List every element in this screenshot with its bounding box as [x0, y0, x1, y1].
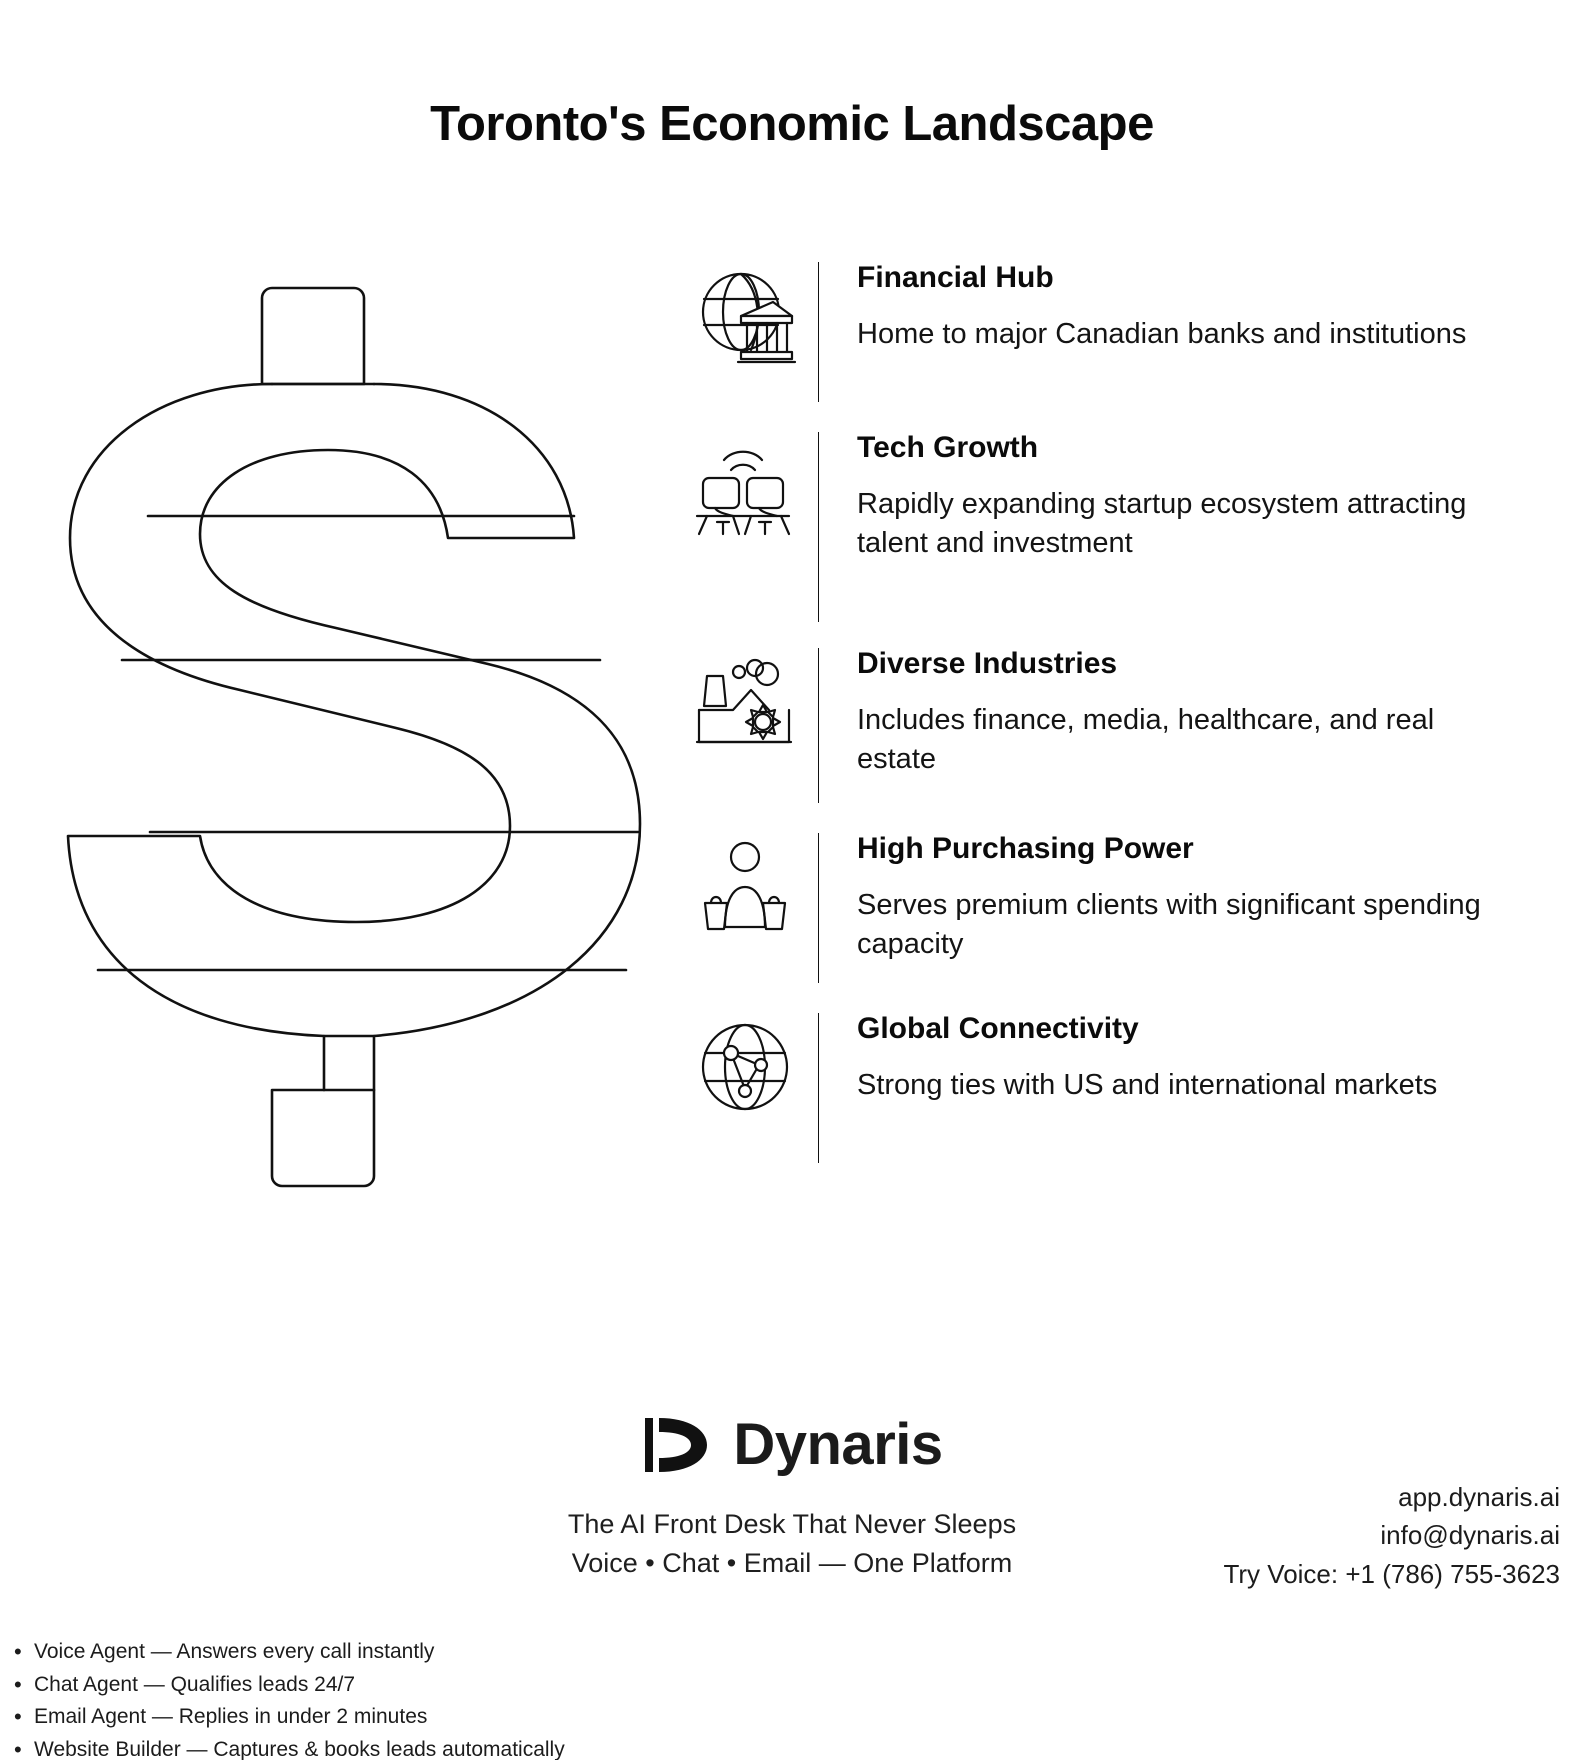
contact-phone[interactable]: Try Voice: +1 (786) 755-3623 — [1223, 1555, 1560, 1593]
list-item: Voice Agent — Answers every call instant… — [8, 1636, 528, 1669]
feature-description: Home to major Canadian banks and institu… — [857, 315, 1497, 354]
list-item: Chat Agent — Qualifies leads 24/7 — [8, 1669, 528, 1702]
brand-name: Dynaris — [733, 1416, 942, 1474]
feature-text: Tech Growth Rapidly expanding startup ec… — [819, 428, 1550, 563]
logo: Dynaris — [641, 1412, 942, 1478]
list-item: Email Agent — Replies in under 2 minutes — [8, 1701, 528, 1734]
feature-text: Global Connectivity Strong ties with US … — [819, 1009, 1550, 1105]
page-title: Toronto's Economic Landscape — [0, 96, 1584, 152]
feature-text: Diverse Industries Includes finance, med… — [819, 644, 1550, 779]
feature-title: Financial Hub — [857, 260, 1550, 295]
dollar-sign-illustration — [40, 270, 660, 1210]
shopper-person-icon — [690, 829, 800, 941]
feature-description: Strong ties with US and international ma… — [857, 1066, 1497, 1105]
feature-title: Tech Growth — [857, 430, 1550, 465]
feature-item-tech-growth: Tech Growth Rapidly expanding startup ec… — [690, 428, 1550, 626]
feature-text: High Purchasing Power Serves premium cli… — [819, 829, 1550, 964]
feature-item-diverse-industries: Diverse Industries Includes finance, med… — [690, 644, 1550, 807]
feature-title: High Purchasing Power — [857, 831, 1550, 866]
app-url[interactable]: app.dynaris.ai — [1223, 1478, 1560, 1516]
feature-description: Serves premium clients with significant … — [857, 886, 1497, 963]
list-item: Website Builder — Captures & books leads… — [8, 1734, 528, 1760]
feature-item-financial-hub: Financial Hub Home to major Canadian ban… — [690, 258, 1550, 406]
feature-title: Global Connectivity — [857, 1011, 1550, 1046]
feature-description: Includes finance, media, healthcare, and… — [857, 701, 1497, 778]
feature-item-global-connectivity: Global Connectivity Strong ties with US … — [690, 1009, 1550, 1167]
footer-feature-bullets: Voice Agent — Answers every call instant… — [8, 1636, 528, 1760]
contact-email[interactable]: info@dynaris.ai — [1223, 1516, 1560, 1554]
feature-item-high-purchasing-power: High Purchasing Power Serves premium cli… — [690, 829, 1550, 987]
dual-monitor-wifi-icon — [690, 428, 800, 540]
infographic-page: Toronto's Economic Landscape — [0, 0, 1584, 1760]
network-globe-icon — [690, 1009, 800, 1121]
feature-title: Diverse Industries — [857, 646, 1550, 681]
dynaris-logo-mark — [641, 1412, 715, 1478]
globe-bank-icon — [690, 258, 800, 370]
feature-description: Rapidly expanding startup ecosystem attr… — [857, 485, 1497, 562]
factory-gear-icon — [690, 644, 800, 756]
footer-contact: app.dynaris.ai info@dynaris.ai Try Voice… — [1223, 1478, 1560, 1593]
feature-list: Financial Hub Home to major Canadian ban… — [690, 258, 1550, 1191]
feature-text: Financial Hub Home to major Canadian ban… — [819, 258, 1550, 354]
